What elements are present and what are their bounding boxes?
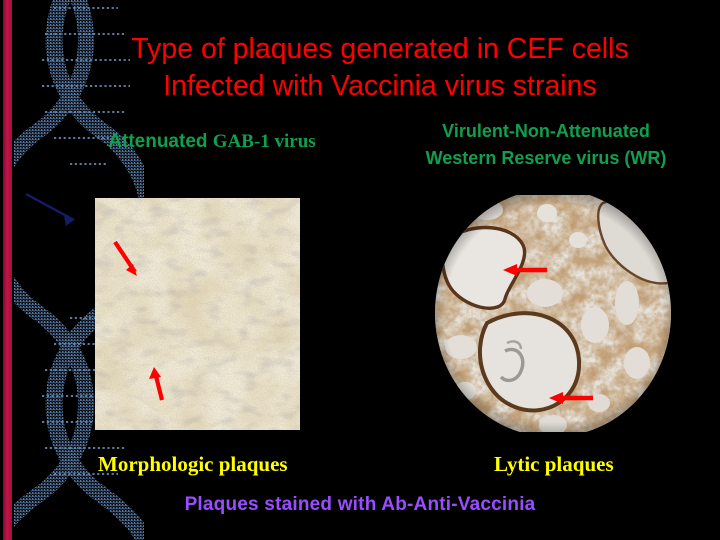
left-header-plain: Attenuated bbox=[108, 131, 213, 152]
left-panel-caption: Morphologic plaques bbox=[98, 452, 288, 477]
right-panel-caption: Lytic plaques bbox=[494, 452, 614, 477]
slide-canvas: Type of plaques generated in CEF cells I… bbox=[0, 0, 720, 540]
left-micrograph bbox=[95, 198, 300, 430]
left-micrograph-content bbox=[95, 198, 300, 430]
left-panel-header: Attenuated GAB-1 virus bbox=[62, 130, 362, 154]
title-line-1: Type of plaques generated in CEF cells bbox=[131, 33, 628, 65]
right-micrograph-content bbox=[435, 195, 672, 432]
right-header-line-2: Western Reserve virus (WR) bbox=[378, 145, 714, 172]
footer-note: Plaques stained with Ab-Anti-Vaccinia bbox=[0, 494, 720, 516]
left-header-emphasis: GAB-1 virus bbox=[213, 131, 316, 152]
slide-title: Type of plaques generated in CEF cells I… bbox=[60, 31, 700, 105]
right-panel-header: Virulent-Non-Attenuated Western Reserve … bbox=[378, 118, 714, 172]
right-header-line-1: Virulent-Non-Attenuated bbox=[378, 118, 714, 145]
title-line-2: Infected with Vaccinia virus strains bbox=[60, 68, 700, 105]
right-micrograph bbox=[435, 195, 672, 432]
left-accent-stripe bbox=[3, 0, 12, 540]
dna-pointer-arrow bbox=[26, 194, 74, 226]
